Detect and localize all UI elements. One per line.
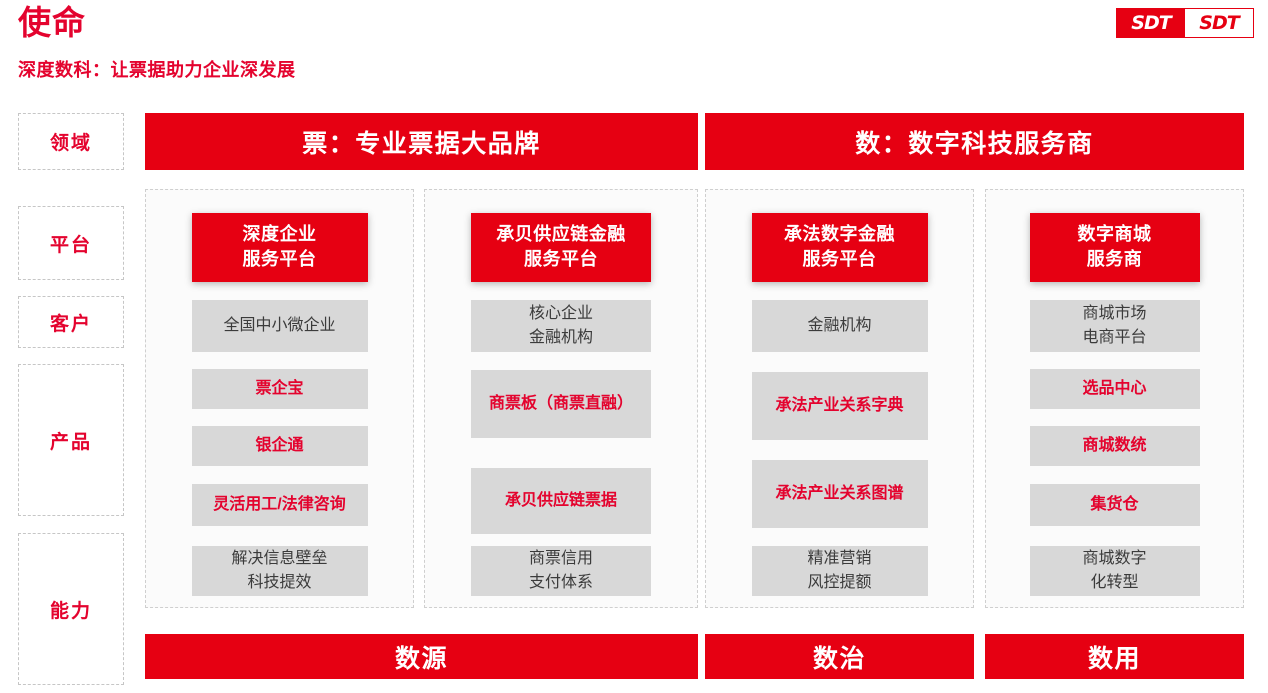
rail-label-domain: 领域 [50,128,92,155]
domain-banner-digital[interactable]: 数：数字科技服务商 [705,113,1244,170]
column-2-cell-3-line1: 商票信用 [529,547,593,571]
rail-item-customer[interactable]: 客户 [18,296,124,348]
column-4-cell-0-line2: 电商平台 [1082,326,1146,350]
rail-item-product[interactable]: 产品 [18,364,124,516]
column-2-cell-2[interactable]: 承贝供应链票据 [471,468,651,534]
rail-label-platform: 平台 [50,230,92,257]
column-3-header[interactable]: 承法数字金融 服务平台 [752,213,928,282]
column-3-cell-0[interactable]: 金融机构 [752,300,928,352]
column-1-cell-1[interactable]: 票企宝 [192,369,368,409]
column-1-cell-2[interactable]: 银企通 [192,426,368,466]
page-subtitle: 深度数科：让票据助力企业深发展 [18,58,296,82]
rail-label-product: 产品 [50,427,92,454]
column-4-cell-4[interactable]: 商城数字 化转型 [1030,546,1200,596]
rail-label-customer: 客户 [50,309,92,336]
bottom-banner-shuyong[interactable]: 数用 [985,634,1244,679]
rail-item-domain[interactable]: 领域 [18,113,124,170]
sdt-logo-ghost: SDT [1185,9,1253,37]
column-4-header[interactable]: 数字商城 服务商 [1030,213,1200,282]
column-2-header-line1: 承贝供应链金融 [479,222,643,247]
column-4-cell-0[interactable]: 商城市场 电商平台 [1030,300,1200,352]
column-3-cell-1-text: 承法产业关系字典 [775,394,903,418]
column-chengbei-supplychain: 承贝供应链金融 服务平台 核心企业 金融机构 商票板（商票直融） 承贝供应链票据… [424,189,698,608]
column-3-cell-2-text: 承法产业关系图谱 [775,482,903,506]
column-4-cell-4-line1: 商城数字 [1082,547,1146,571]
column-4-cell-3-text: 集货仓 [1090,493,1138,517]
column-2-cell-2-text: 承贝供应链票据 [505,489,617,513]
column-3-cell-3-line1: 精准营销 [807,547,871,571]
column-3-cell-2[interactable]: 承法产业关系图谱 [752,460,928,528]
column-4-cell-3[interactable]: 集货仓 [1030,484,1200,526]
column-chengfa-digital-finance: 承法数字金融 服务平台 金融机构 承法产业关系字典 承法产业关系图谱 精准营销 … [705,189,974,608]
column-digital-mall: 数字商城 服务商 商城市场 电商平台 选品中心 商城数统 集货仓 商城数字 化转… [985,189,1244,608]
bottom-banner-shuyuan[interactable]: 数源 [145,634,698,679]
column-3-cell-3-line2: 风控提额 [807,571,871,595]
column-4-cell-1[interactable]: 选品中心 [1030,369,1200,409]
column-1-cell-3-text: 灵活用工/法律咨询 [213,493,345,517]
column-4-cell-4-line2: 化转型 [1090,571,1138,595]
column-1-header-line2: 服务平台 [200,247,360,272]
column-3-cell-3[interactable]: 精准营销 风控提额 [752,546,928,596]
bottom-banner-shuyong-label: 数用 [1088,639,1141,675]
slide-root: 使命 深度数科：让票据助力企业深发展 SDT SDT 领域 平台 客户 产品 能… [0,0,1268,693]
column-2-cell-0[interactable]: 核心企业 金融机构 [471,300,651,352]
column-1-header-line1: 深度企业 [200,222,360,247]
column-4-cell-0-line1: 商城市场 [1082,302,1146,326]
column-4-cell-2[interactable]: 商城数统 [1030,426,1200,466]
domain-banner-ticket-label: 票：专业票据大品牌 [302,124,541,160]
bottom-banner-shuzhi-label: 数治 [813,639,866,675]
bottom-banner-shuzhi[interactable]: 数治 [705,634,974,679]
column-4-header-line2: 服务商 [1038,247,1192,272]
sdt-logo-solid: SDT [1117,9,1185,37]
page-title: 使命 [18,2,86,46]
column-1-cell-1-text: 票企宝 [255,377,303,401]
column-1-cell-4[interactable]: 解决信息壁垒 科技提效 [192,546,368,596]
rail-item-capability[interactable]: 能力 [18,533,124,685]
column-1-header[interactable]: 深度企业 服务平台 [192,213,368,282]
column-1-cell-0-text: 全国中小微企业 [223,314,335,338]
column-2-cell-1-text: 商票板（商票直融） [489,392,633,416]
column-3-cell-1[interactable]: 承法产业关系字典 [752,372,928,440]
rail-item-platform[interactable]: 平台 [18,206,124,280]
rail-label-capability: 能力 [50,596,92,623]
column-2-header-line2: 服务平台 [479,247,643,272]
column-2-cell-0-line2: 金融机构 [529,326,593,350]
column-4-cell-1-text: 选品中心 [1082,377,1146,401]
column-2-cell-3[interactable]: 商票信用 支付体系 [471,546,651,596]
sdt-logo: SDT SDT [1116,8,1254,38]
column-3-header-line2: 服务平台 [760,247,920,272]
bottom-banner-shuyuan-label: 数源 [395,639,448,675]
column-1-cell-3[interactable]: 灵活用工/法律咨询 [192,484,368,526]
column-3-header-line1: 承法数字金融 [760,222,920,247]
column-2-header[interactable]: 承贝供应链金融 服务平台 [471,213,651,282]
column-1-cell-2-text: 银企通 [255,434,303,458]
column-1-cell-4-line1: 解决信息壁垒 [231,547,327,571]
column-1-cell-4-line2: 科技提效 [247,571,311,595]
column-4-header-line1: 数字商城 [1038,222,1192,247]
domain-banner-ticket[interactable]: 票：专业票据大品牌 [145,113,698,170]
column-shendu-enterprise: 深度企业 服务平台 全国中小微企业 票企宝 银企通 灵活用工/法律咨询 解决信息… [145,189,414,608]
domain-banner-digital-label: 数：数字科技服务商 [855,124,1094,160]
column-4-cell-2-text: 商城数统 [1082,434,1146,458]
column-2-cell-1[interactable]: 商票板（商票直融） [471,370,651,438]
column-2-cell-0-line1: 核心企业 [529,302,593,326]
column-1-cell-0[interactable]: 全国中小微企业 [192,300,368,352]
column-3-cell-0-text: 金融机构 [807,314,871,338]
column-2-cell-3-line2: 支付体系 [529,571,593,595]
